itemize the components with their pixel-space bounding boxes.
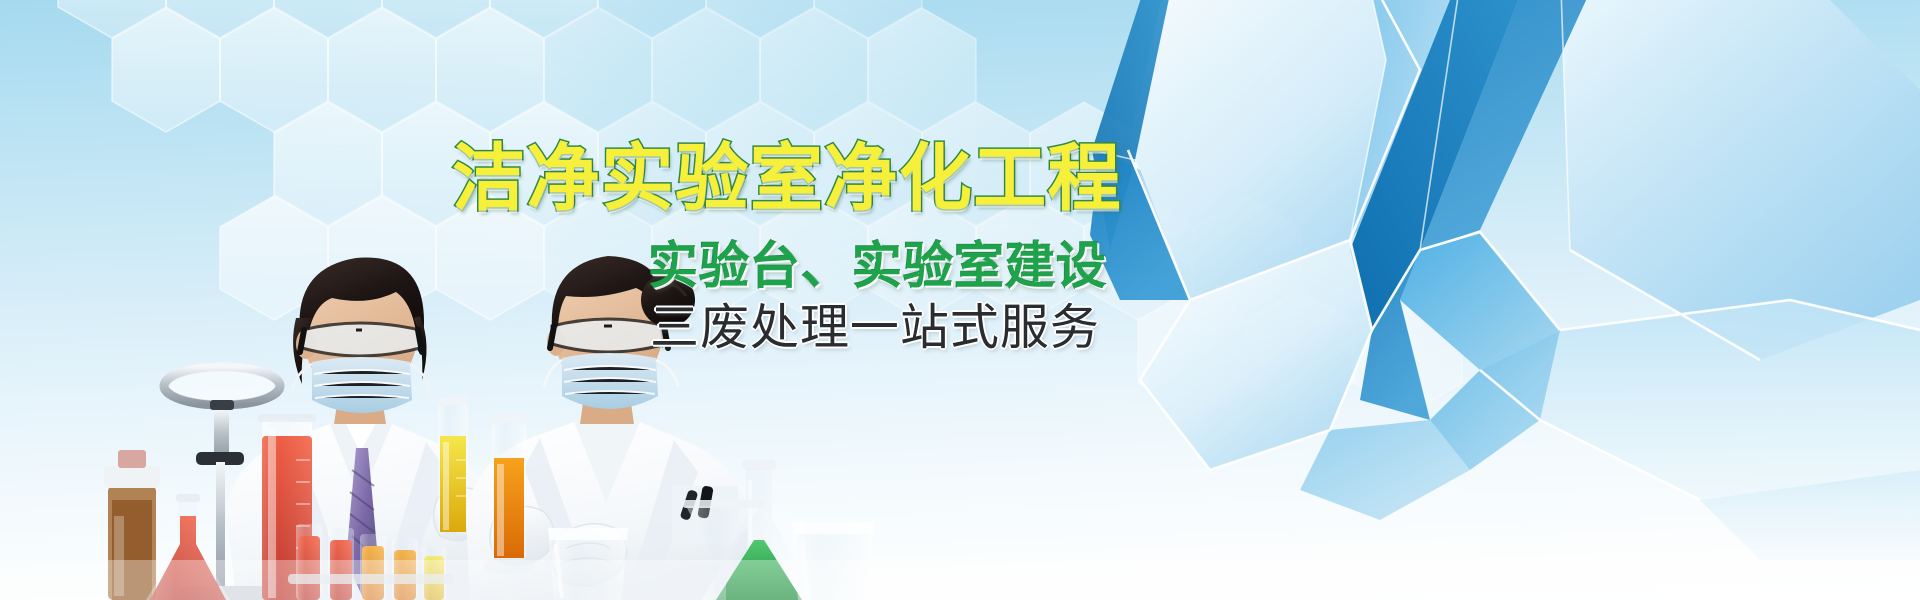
promo-banner: 洁净实验室净化工程 实验台、实验室建设 三废处理一站式服务 [0,0,1920,600]
lab-scene-illustration [0,0,1920,600]
test-tube-yellow-left [438,396,468,534]
